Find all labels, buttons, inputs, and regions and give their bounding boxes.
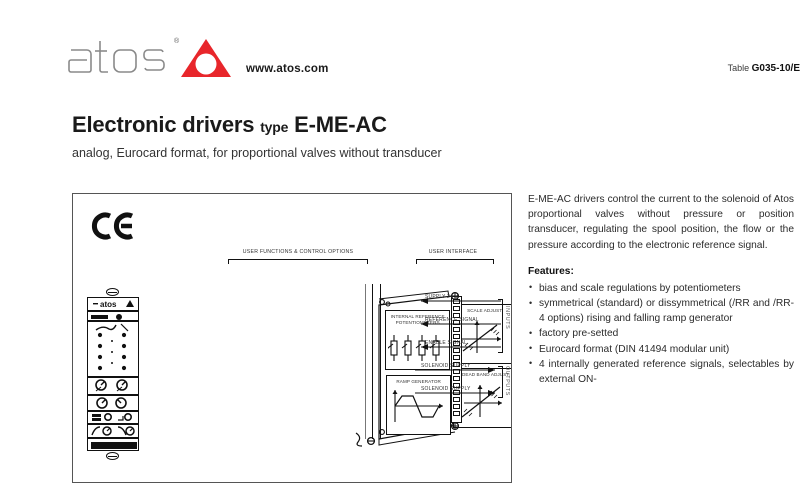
group-label-user-functions: USER FUNCTIONS & CONTROL OPTIONS	[203, 249, 393, 255]
outputs-bracket	[498, 366, 503, 398]
table-reference-code: G035-10/E	[752, 63, 800, 74]
group-label-user-interface: USER INTERFACE	[403, 249, 503, 255]
signal-arrows	[403, 292, 512, 422]
inputs-label: INPUTS	[504, 306, 510, 329]
svg-text:atos: atos	[100, 300, 117, 308]
features-list: bias and scale regulations by potentiome…	[528, 281, 794, 387]
atos-triangle-icon	[180, 38, 232, 78]
feature-item: 4 internally generated reference signals…	[528, 357, 794, 387]
module-knob-segment-lower	[87, 395, 139, 411]
page-title-main: Electronic drivers	[72, 112, 254, 137]
website-url[interactable]: www.atos.com	[246, 63, 329, 75]
page-subtitle: analog, Eurocard format, for proportiona…	[72, 146, 442, 160]
signal-label-enable-signal: ENABLE SIGNAL	[425, 340, 467, 346]
module-knob-segment-upper	[87, 377, 139, 395]
table-reference-label: Table	[728, 63, 750, 73]
module-switch-segment	[87, 411, 139, 424]
group-bracket-user-functions	[228, 259, 368, 264]
module-display-bar-icon	[91, 315, 108, 319]
module-part-label-segment	[87, 438, 139, 451]
page-title-model: E-ME-AC	[294, 112, 387, 137]
module-terminal-segment	[87, 321, 139, 377]
feature-item: Eurocard format (DIN 41494 modular unit)	[528, 342, 794, 357]
module-brand-logo-icon: atos	[91, 298, 137, 309]
panel-screw-top-icon	[106, 288, 119, 296]
ce-mark-icon	[89, 212, 135, 240]
inputs-bracket	[498, 299, 503, 353]
table-reference: Table G035-10/E	[630, 63, 800, 74]
feature-item: factory pre-setted	[528, 326, 794, 341]
module-ramp-segment	[87, 424, 139, 438]
module-display-segment	[87, 311, 139, 321]
signal-label-solenoid-supply-1: SOLENOID SUPPLY	[421, 363, 471, 369]
panel-screw-bottom-icon	[106, 452, 119, 460]
module-part-code-label	[91, 442, 137, 449]
feature-item: bias and scale regulations by potentiome…	[528, 281, 794, 296]
brand-logo: ® www.atos.com	[68, 34, 329, 78]
signal-label-solenoid-supply-2: SOLENOID SUPPLY	[421, 386, 471, 392]
registered-symbol: ®	[174, 38, 179, 45]
outputs-label: OUTPUTS	[504, 366, 510, 396]
module-logo-segment: atos	[87, 297, 139, 311]
page-title: Electronic drivers type E-ME-AC	[72, 112, 387, 138]
signal-label-reference-signal: REFERENCE SIGNAL	[425, 317, 479, 323]
product-diagram: atos	[72, 193, 512, 483]
signal-label-supply-24v: SUPPLY 24 V	[425, 294, 458, 300]
atos-wordmark-icon: ®	[68, 34, 172, 78]
module-led-icon	[116, 314, 122, 320]
group-bracket-user-interface	[416, 259, 494, 264]
page-title-type-word: type	[260, 119, 288, 135]
driver-module-front-panel: atos	[87, 288, 139, 460]
features-heading: Features:	[528, 266, 794, 277]
description-column: E-ME-AC drivers control the current to t…	[528, 192, 794, 387]
page-header: ® www.atos.com Table G035-10/E	[0, 0, 800, 100]
intro-paragraph: E-ME-AC drivers control the current to t…	[528, 192, 794, 253]
feature-item: symmetrical (standard) or dissymmetrical…	[528, 296, 794, 326]
